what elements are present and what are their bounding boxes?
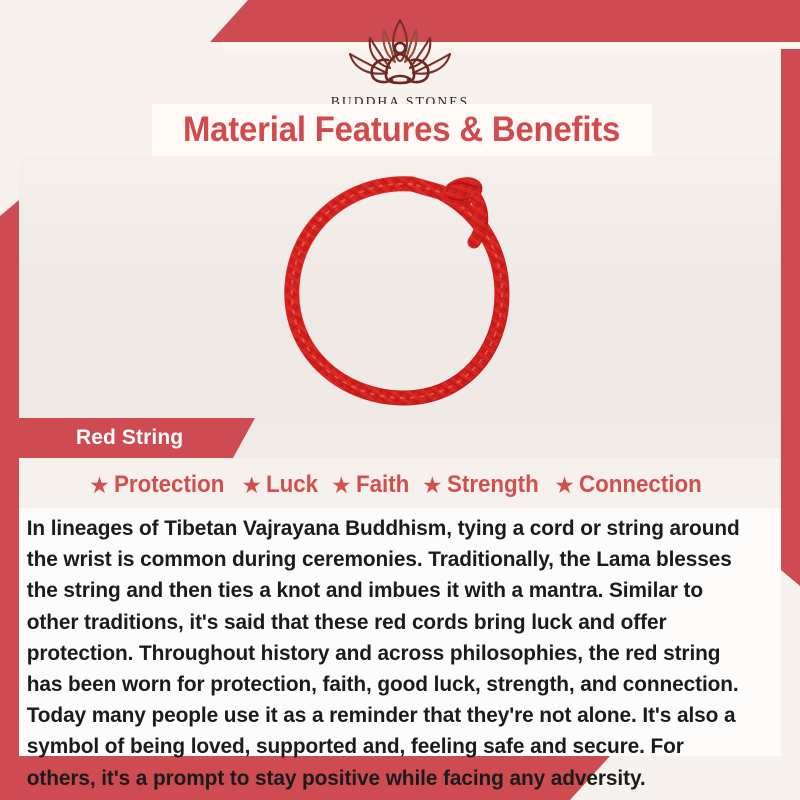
star-icon: ★ <box>331 474 352 497</box>
benefits-row: ★ Protection ★ Luck ★ Faith ★ Strength ★… <box>19 462 781 508</box>
benefit-label: Strength <box>447 471 539 499</box>
lotus-meditation-icon <box>332 14 468 92</box>
benefit-item: ★ Luck <box>241 471 322 499</box>
infographic-poster: BUDDHA STONES Material Features & Benefi… <box>0 0 800 800</box>
benefit-label: Luck <box>266 471 318 499</box>
right-red-strip-decoration <box>781 49 800 586</box>
star-icon: ★ <box>89 474 110 497</box>
product-label-banner: Red String <box>19 418 255 458</box>
benefit-label: Faith <box>356 471 409 499</box>
benefit-item: ★ Protection <box>89 471 232 499</box>
benefit-item: ★ Strength <box>422 471 545 499</box>
benefit-label: Connection <box>579 471 702 499</box>
left-red-strip-decoration <box>0 200 19 780</box>
brand-logo: BUDDHA STONES <box>0 14 800 110</box>
page-title: Material Features & Benefits <box>183 110 620 150</box>
red-string-bracelet-image <box>262 156 538 420</box>
description-panel: In lineages of Tibetan Vajrayana Buddhis… <box>19 508 781 756</box>
benefit-item: ★ Faith <box>331 471 413 499</box>
benefit-item: ★ Connection <box>554 471 711 499</box>
description-text: In lineages of Tibetan Vajrayana Buddhis… <box>19 508 754 793</box>
product-label: Red String <box>76 426 183 450</box>
star-icon: ★ <box>241 474 262 497</box>
title-banner: Material Features & Benefits <box>152 104 652 156</box>
product-hero-area <box>19 156 781 420</box>
star-icon: ★ <box>554 474 575 497</box>
star-icon: ★ <box>422 474 443 497</box>
benefit-label: Protection <box>114 471 224 499</box>
